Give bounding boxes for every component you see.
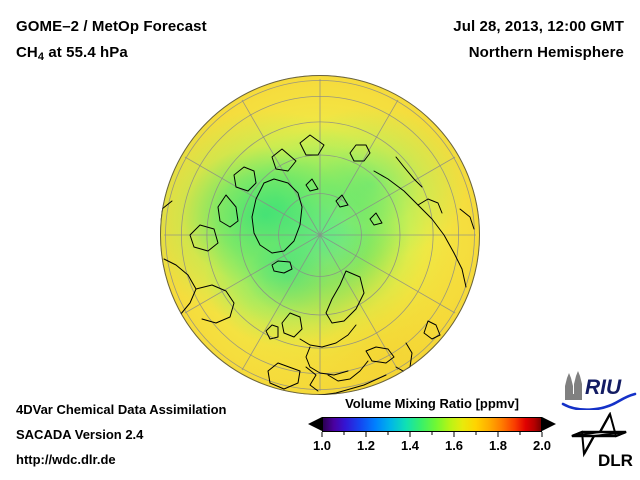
species-prefix: CH xyxy=(16,44,38,61)
riu-wordmark: RIU xyxy=(585,376,622,399)
globe-disc xyxy=(160,75,480,395)
colorbar-tick-labels: 1.01.21.41.61.82.0 xyxy=(306,438,558,456)
colorbar-tick-minor xyxy=(344,432,345,435)
colorbar-tick-major xyxy=(454,432,455,437)
colorbar-gradient xyxy=(322,417,542,432)
species-suffix: at 55.4 hPa xyxy=(44,44,128,61)
figure-canvas: GOME–2 / MetOp Forecast CH4 at 55.4 hPa … xyxy=(0,0,640,480)
polar-map xyxy=(160,75,480,395)
colorbar-tick-label: 1.2 xyxy=(357,438,375,453)
region-label: Northern Hemisphere xyxy=(469,44,624,61)
colorbar-extend-min-arrow xyxy=(308,417,322,431)
colorbar-tick-major xyxy=(322,432,323,437)
colorbar-tick-major xyxy=(410,432,411,437)
colorbar-tick-major xyxy=(498,432,499,437)
colorbar: Volume Mixing Ratio [ppmv] 1.01.21.41.61… xyxy=(306,396,558,456)
colorbar-tick-label: 1.6 xyxy=(445,438,463,453)
colorbar-tick-major xyxy=(542,432,543,437)
colorbar-tick-major xyxy=(366,432,367,437)
version-label: SACADA Version 2.4 xyxy=(16,427,143,442)
colorbar-tick-minor xyxy=(520,432,521,435)
riu-logo: RIU xyxy=(561,370,637,410)
colorbar-extend-max-arrow xyxy=(542,417,556,431)
colorbar-ticks xyxy=(322,432,542,437)
dlr-wordmark: DLR xyxy=(598,451,633,470)
datetime-label: Jul 28, 2013, 12:00 GMT xyxy=(453,18,624,35)
colorbar-tick-label: 1.0 xyxy=(313,438,331,453)
colorbar-title: Volume Mixing Ratio [ppmv] xyxy=(306,396,558,411)
colorbar-tick-minor xyxy=(388,432,389,435)
limb-shading xyxy=(160,75,480,395)
instrument-title: GOME–2 / MetOp Forecast xyxy=(16,18,207,35)
method-label: 4DVar Chemical Data Assimilation xyxy=(16,402,227,417)
colorbar-tick-label: 1.4 xyxy=(401,438,419,453)
colorbar-tick-label: 1.8 xyxy=(489,438,507,453)
dlr-star-icon xyxy=(572,414,626,454)
cathedral-spires-icon xyxy=(565,371,582,400)
colorbar-tick-minor xyxy=(476,432,477,435)
colorbar-strip xyxy=(306,415,558,435)
website-link[interactable]: http://wdc.dlr.de xyxy=(16,452,116,467)
colorbar-tick-minor xyxy=(432,432,433,435)
colorbar-tick-label: 2.0 xyxy=(533,438,551,453)
species-level-title: CH4 at 55.4 hPa xyxy=(16,44,128,63)
dlr-logo: DLR xyxy=(570,412,634,470)
